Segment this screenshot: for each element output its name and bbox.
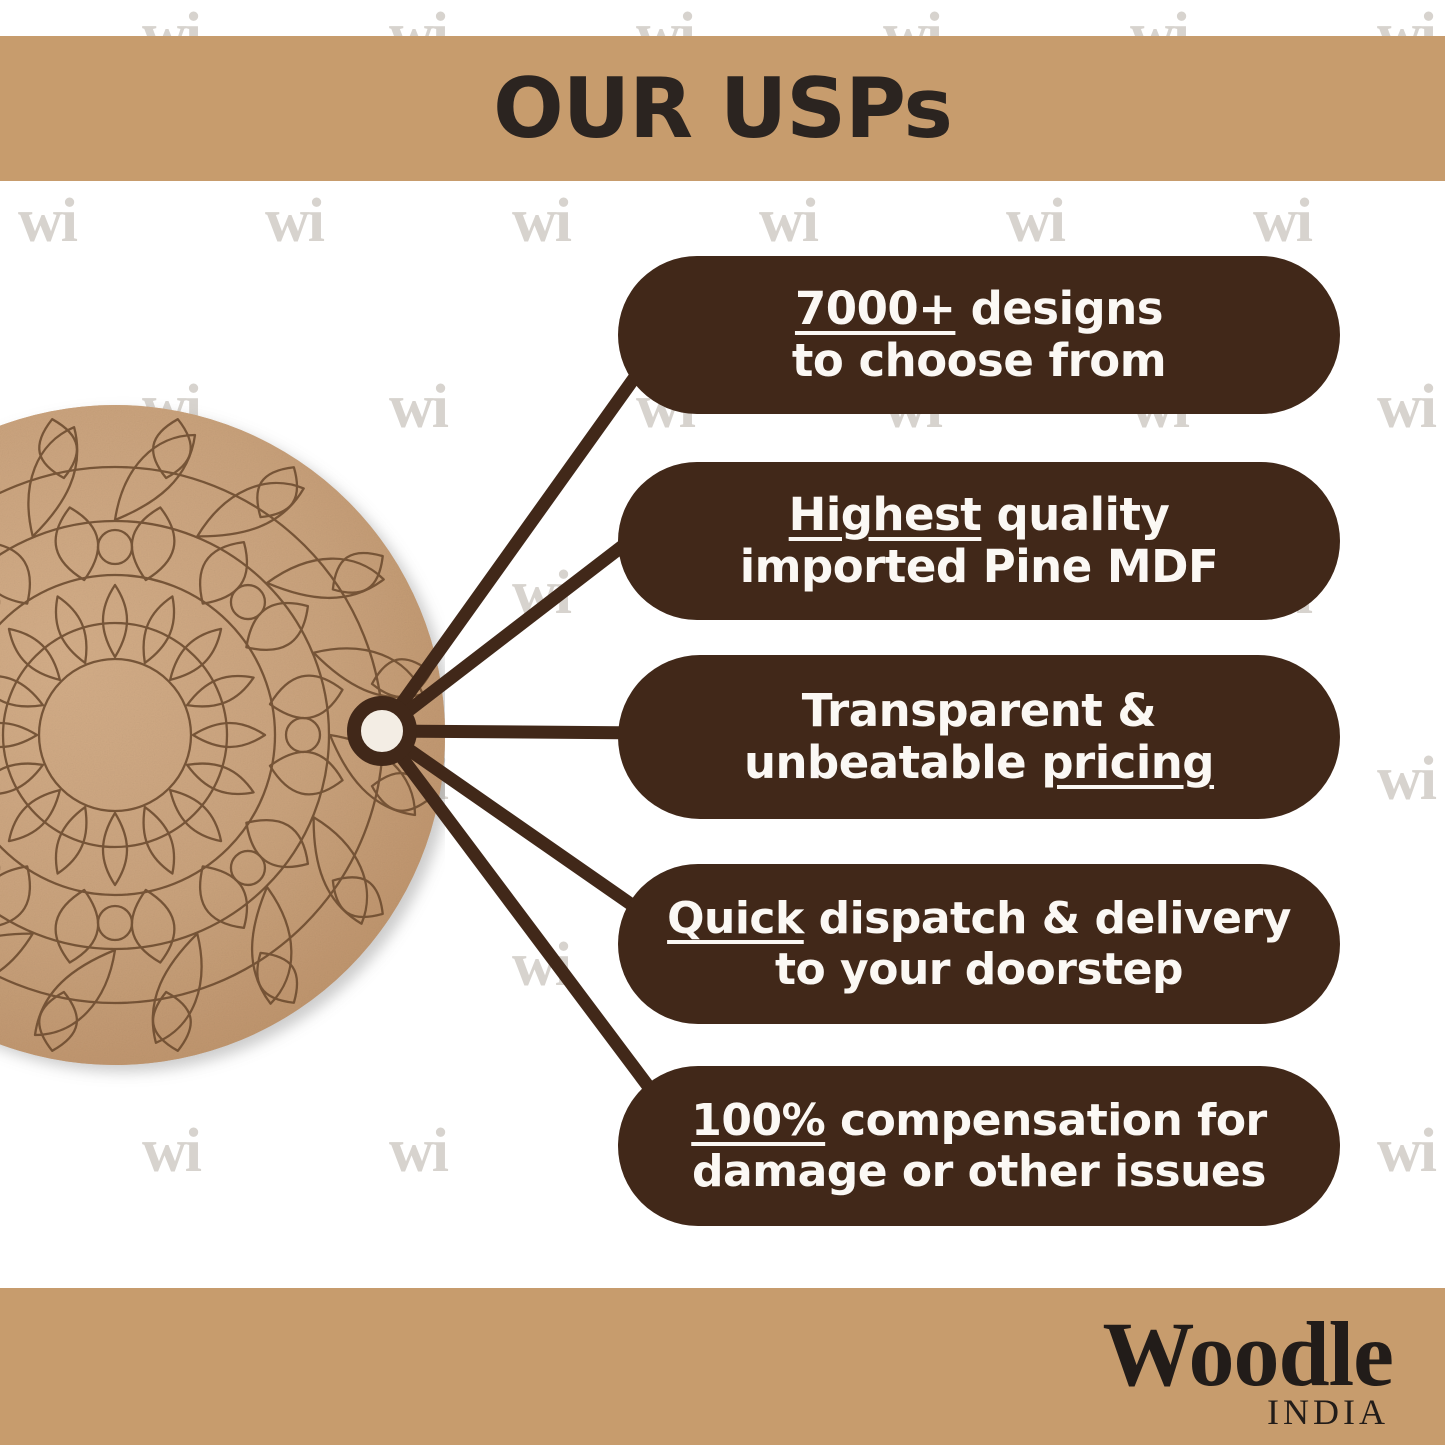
page-title: OUR USPs <box>0 36 1445 181</box>
usp-3-line1: Transparent & <box>802 684 1156 737</box>
watermark-wi: wi <box>1377 376 1435 438</box>
watermark-wi: wi <box>512 934 570 996</box>
usp-pill-dispatch-text: Quick dispatch & delivery to your doorst… <box>667 893 1291 995</box>
usp-5-line1-rest: compensation for <box>825 1095 1267 1146</box>
watermark-wi: wi <box>18 190 76 252</box>
usp-5-highlight: 100% <box>691 1095 825 1146</box>
header-band: OUR USPs <box>0 36 1445 181</box>
usp-pill-designs-text: 7000+ designs to choose from <box>792 283 1166 387</box>
usp-1-line1-rest: designs <box>955 282 1163 335</box>
watermark-wi: wi <box>265 190 323 252</box>
watermark-wi: wi <box>1253 190 1311 252</box>
watermark-wi: wi <box>759 190 817 252</box>
brand-logo: Woodle INDIA <box>1103 1308 1393 1430</box>
usp-1-highlight: 7000+ <box>795 282 955 335</box>
usp-pill-quality-text: Highest quality imported Pine MDF <box>740 489 1219 593</box>
product-image-mandala-mdf <box>0 300 445 1180</box>
usp-3-line2-lead: unbeatable <box>744 736 1041 789</box>
infographic-canvas: wiwiwiwiwiwiwiwiwiwiwiwiwiwiwiwiwiwiwiwi… <box>0 0 1445 1445</box>
usp-5-line2: damage or other issues <box>692 1146 1266 1197</box>
usp-pill-dispatch[interactable]: Quick dispatch & delivery to your doorst… <box>618 864 1340 1024</box>
usp-pill-compensation-text: 100% compensation for damage or other is… <box>691 1095 1267 1197</box>
usp-4-line1-rest: dispatch & delivery <box>804 893 1291 944</box>
footer-band: Woodle INDIA <box>0 1288 1445 1445</box>
usp-pill-quality[interactable]: Highest quality imported Pine MDF <box>618 462 1340 620</box>
usp-pill-designs[interactable]: 7000+ designs to choose from <box>618 256 1340 414</box>
watermark-wi: wi <box>512 190 570 252</box>
usp-2-highlight: Highest <box>789 488 982 541</box>
usp-pill-compensation[interactable]: 100% compensation for damage or other is… <box>618 1066 1340 1226</box>
brand-name: Woodle <box>1103 1308 1393 1400</box>
usp-pill-pricing[interactable]: Transparent & unbeatable pricing <box>618 655 1340 819</box>
usp-3-highlight: pricing <box>1041 736 1214 789</box>
usp-2-line2: imported Pine MDF <box>740 540 1219 593</box>
watermark-wi: wi <box>1377 748 1435 810</box>
watermark-wi: wi <box>1377 1120 1435 1182</box>
usp-pill-pricing-text: Transparent & unbeatable pricing <box>744 685 1214 789</box>
watermark-wi: wi <box>512 562 570 624</box>
usp-2-line1-rest: quality <box>981 488 1169 541</box>
usp-1-line2: to choose from <box>792 334 1166 387</box>
watermark-wi: wi <box>1006 190 1064 252</box>
usp-4-line2: to your doorstep <box>775 944 1183 995</box>
usp-4-highlight: Quick <box>667 893 804 944</box>
